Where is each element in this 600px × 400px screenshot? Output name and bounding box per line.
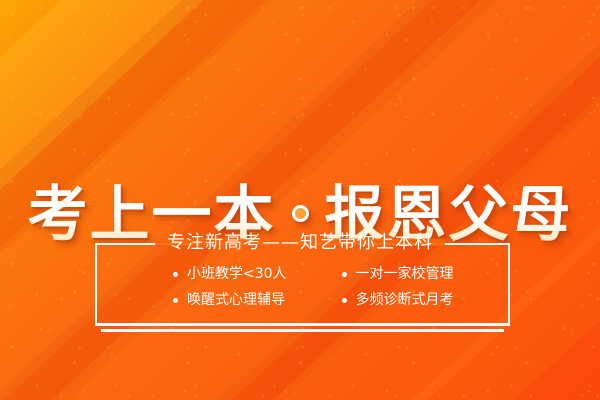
list-item: 小班教学<30人 <box>173 262 342 286</box>
subtitle: 专注新高考——知艺带你上本科 <box>0 232 600 254</box>
list-item-label: 一对一家校管理 <box>356 262 454 286</box>
bullet-dot-icon <box>342 298 347 303</box>
list-item: 多频诊断式月考 <box>342 288 511 312</box>
list-item-label: 小班教学<30人 <box>187 262 287 286</box>
list-item: 一对一家校管理 <box>342 262 511 286</box>
list-item-label: 多频诊断式月考 <box>356 288 454 312</box>
list-item: 唤醒式心理辅导 <box>173 288 342 312</box>
bullet-dot-icon <box>173 298 178 303</box>
list-item-label: 唤醒式心理辅导 <box>187 288 285 312</box>
subtitle-text: 专注新高考——知艺带你上本科 <box>155 232 445 253</box>
dot-separator-icon <box>292 205 309 222</box>
bullet-dot-icon <box>342 272 347 277</box>
promo-banner: 考上一本报恩父母 专注新高考——知艺带你上本科 小班教学<30人 一对一家校管理… <box>0 0 600 400</box>
feature-list: 小班教学<30人 一对一家校管理 唤醒式心理辅导 多频诊断式月考 <box>95 262 510 312</box>
bullet-dot-icon <box>173 272 178 277</box>
